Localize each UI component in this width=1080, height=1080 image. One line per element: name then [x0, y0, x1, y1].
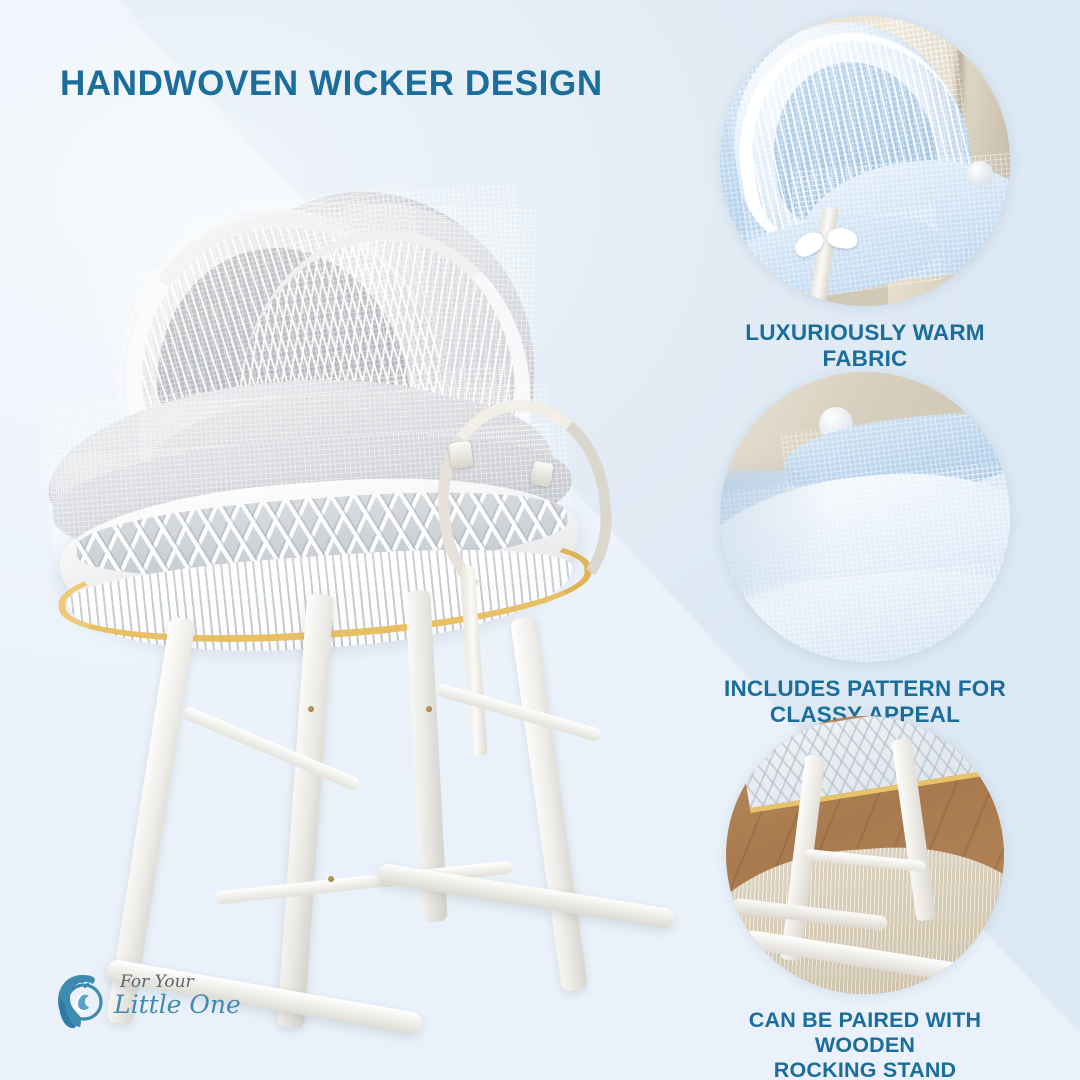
- handle-buckle-left: [448, 441, 473, 470]
- waffle-texture-closeup-photo: [720, 372, 1010, 662]
- caption-line: LUXURIOUSLY WARM: [710, 320, 1020, 346]
- stand-leg-front-right: [277, 594, 334, 1029]
- wooden-rocking-stand-photo: [726, 716, 1004, 994]
- caption-line: FABRIC: [710, 346, 1020, 372]
- feature-block-stand: CAN BE PAIRED WITH WOODEN ROCKING STAND …: [710, 716, 1020, 1080]
- feature-caption: LUXURIOUSLY WARM FABRIC: [710, 320, 1020, 372]
- stand-dowel-left: [181, 705, 361, 791]
- stand-leg-back-right: [510, 616, 588, 992]
- caption-line: ROCKING STAND: [710, 1058, 1020, 1080]
- product-feature-poster: HANDWOVEN WICKER DESIGN: [0, 0, 1080, 1080]
- handle-buckle-right: [530, 460, 554, 487]
- brand-wordmark: For Your Little One: [114, 968, 244, 1032]
- blue-waffle-hood-photo: [720, 16, 1010, 306]
- brand-line-1: For Your: [120, 972, 194, 992]
- screw-head: [426, 706, 432, 712]
- caption-line: CAN BE PAIRED WITH WOODEN: [710, 1008, 1020, 1058]
- hero-product-image: [46, 186, 646, 986]
- brand-line-2: Little One: [114, 990, 241, 1019]
- feature-block-fabric: LUXURIOUSLY WARM FABRIC: [710, 16, 1020, 372]
- screw-head: [328, 876, 334, 882]
- mother-and-baby-icon: [52, 972, 108, 1032]
- feature-block-pattern: INCLUDES PATTERN FOR CLASSY APPEAL: [710, 372, 1020, 728]
- page-title: HANDWOVEN WICKER DESIGN: [60, 64, 603, 104]
- caption-line: INCLUDES PATTERN FOR: [710, 676, 1020, 702]
- feature-caption: CAN BE PAIRED WITH WOODEN ROCKING STAND …: [710, 1008, 1020, 1080]
- brand-logo[interactable]: For Your Little One: [52, 968, 242, 1042]
- stand-dowel-right: [436, 683, 603, 742]
- screw-head: [308, 706, 314, 712]
